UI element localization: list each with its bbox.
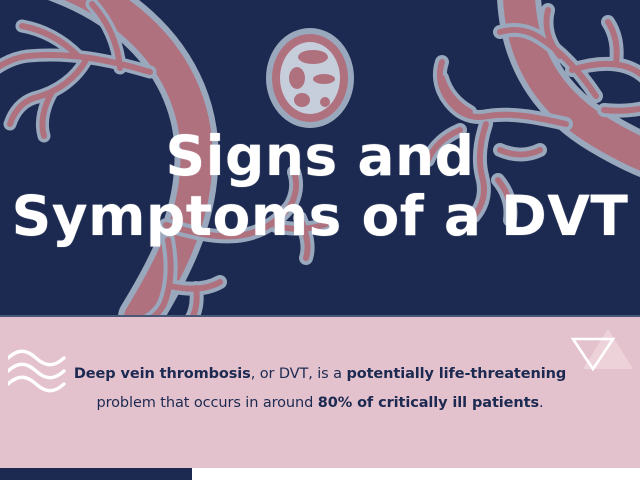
poster-title: Signs and Symptoms of a DVT — [0, 128, 640, 244]
vessel-cross-section-clot — [266, 28, 354, 128]
footer-strip — [0, 468, 640, 480]
triangles-decoration — [565, 321, 635, 373]
footer-accent-bar — [0, 468, 192, 480]
body-segment-bold-2: potentially life-threatening — [346, 366, 566, 382]
title-line-2: Symptoms of a DVT — [0, 188, 640, 244]
body-segment-bold-1: Deep vein thrombosis — [74, 366, 251, 382]
title-line-1: Signs and — [0, 128, 640, 184]
body-paragraph: Deep vein thrombosis, or DVT, is a poten… — [70, 360, 570, 418]
body-segment-regular-1: , or DVT, is a — [251, 366, 347, 382]
dvt-infographic-poster: Signs and Symptoms of a DVT Deep vein th… — [0, 0, 640, 480]
body-segment-regular-2: problem that occurs in around — [97, 395, 318, 411]
body-band: Deep vein thrombosis, or DVT, is a poten… — [0, 317, 640, 468]
hero-banner: Signs and Symptoms of a DVT — [0, 0, 640, 317]
body-segment-regular-3: . — [539, 395, 544, 411]
body-segment-bold-3: 80% of critically ill patients — [318, 395, 539, 411]
